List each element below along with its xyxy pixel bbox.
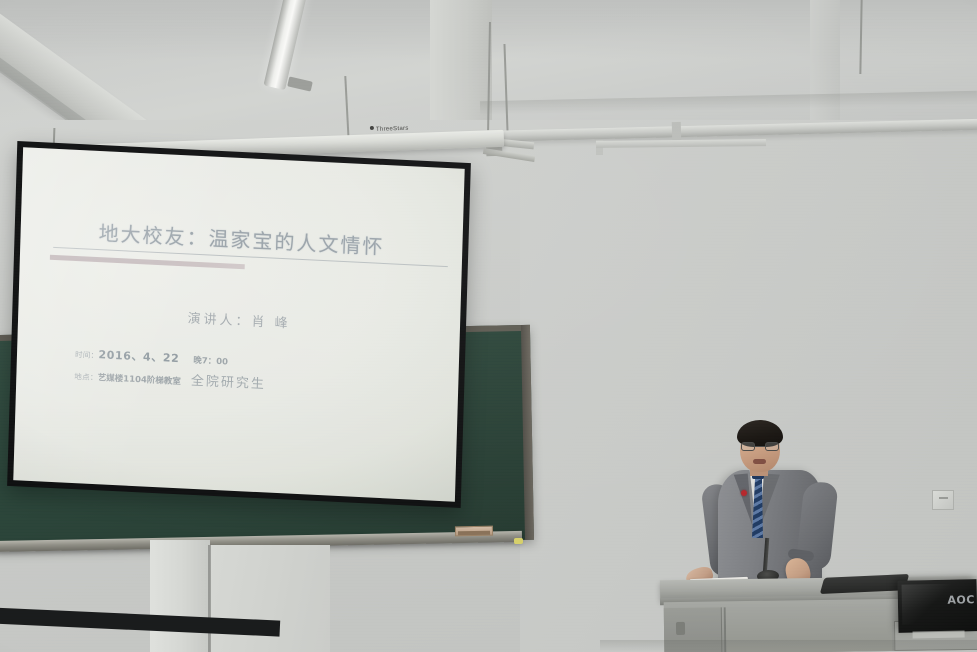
screen-brand-label: ThreeStars (370, 124, 430, 136)
presenter-glasses (741, 442, 779, 451)
computer-monitor[interactable]: AOC (897, 579, 977, 633)
slide-time-label: 时间： (75, 350, 99, 360)
wall-outlet-plate[interactable] (932, 490, 954, 510)
monitor-stand (913, 630, 965, 638)
slide-place-label: 地点： (74, 372, 98, 382)
podium-cabinet-handle[interactable] (676, 622, 685, 635)
podium-floor-shadow (600, 640, 977, 652)
glasses-lens-right (765, 442, 779, 451)
slide-speaker-line: 演讲人：肖 峰 (18, 299, 460, 340)
monitor-brand-logo: AOC (947, 593, 975, 607)
eraser-felt (458, 531, 490, 536)
blackboard-eraser[interactable] (455, 526, 493, 537)
lecture-hall-photo: ThreeStars 地大校友：温家宝的人文情怀 演讲人：肖 峰 时间：2016… (0, 0, 977, 652)
slide-audience: 全院研究生 (191, 374, 266, 393)
brand-logo-dot (370, 126, 374, 130)
slide-meta-block: 时间：2016、4、22晚7：00 地点：艺媒楼1104阶梯教室全院研究生 (74, 342, 415, 403)
screen-brand-text: ThreeStars (376, 126, 409, 133)
projection-screen-frame: 地大校友：温家宝的人文情怀 演讲人：肖 峰 时间：2016、4、22晚7：00 … (7, 141, 471, 508)
wall-pillar-lower-left (150, 540, 210, 652)
slide-content: 地大校友：温家宝的人文情怀 演讲人：肖 峰 时间：2016、4、22晚7：00 … (13, 147, 464, 501)
presenter-mouth (753, 459, 766, 464)
wall-outlet-slot (939, 497, 948, 499)
slide-place-value: 艺媒楼1104阶梯教室 (98, 373, 181, 387)
slide-time-evening: 晚7：00 (193, 356, 228, 368)
yellow-chalk[interactable] (514, 538, 523, 544)
glasses-bridge (755, 446, 765, 447)
wall-pilaster-right (810, 0, 840, 130)
presenter-lapel-pin (741, 490, 747, 496)
wall-panel-seam (208, 545, 211, 652)
slide-time-value: 2016、4、22 (98, 348, 179, 365)
slide-title-accent-bar (50, 255, 245, 270)
glasses-lens-left (741, 442, 755, 451)
projection-screen-surface: 地大校友：温家宝的人文情怀 演讲人：肖 峰 时间：2016、4、22晚7：00 … (13, 147, 464, 501)
